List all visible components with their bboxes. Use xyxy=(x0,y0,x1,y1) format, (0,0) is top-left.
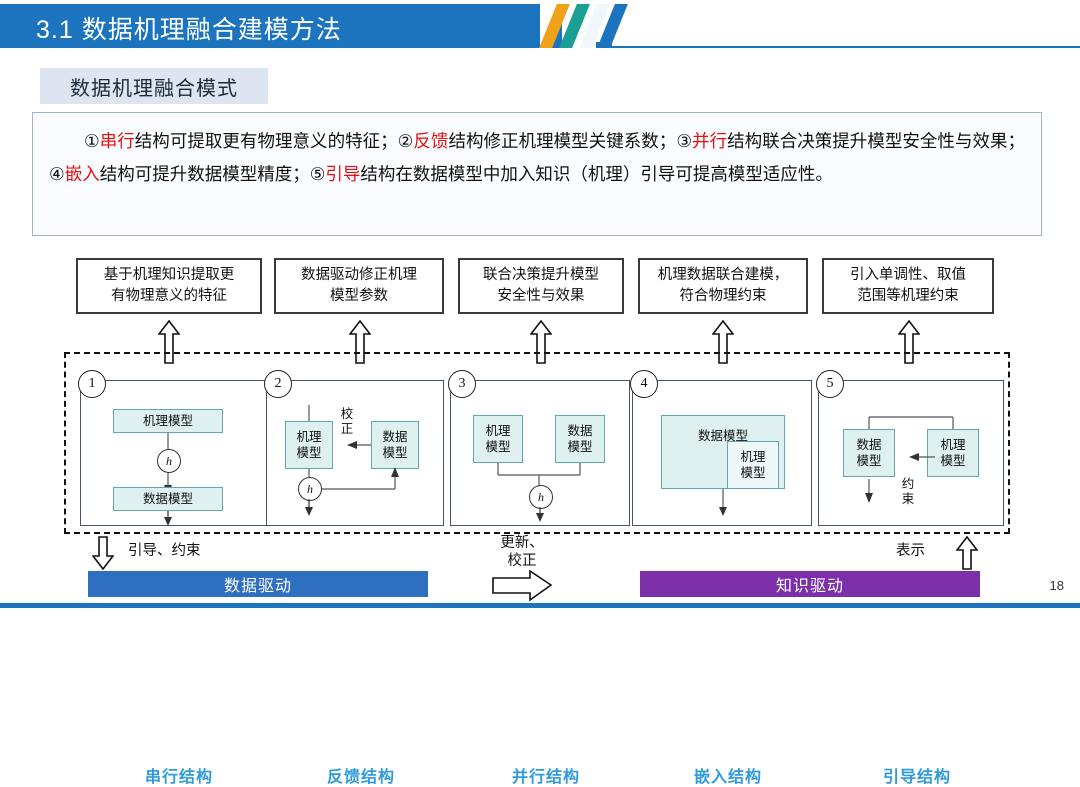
structure-number-4: 4 xyxy=(630,370,658,398)
footer-line xyxy=(0,603,1080,608)
outcome-box-2: 数据驱动修正机理 模型参数 xyxy=(274,258,444,314)
description-segment-10: 结构在数据模型中加入知识（机理）引导可提高模型适应性。 xyxy=(360,164,833,184)
description-segment-5: 并行 xyxy=(692,131,727,151)
parallel-data-model-box: 数据 模型 xyxy=(555,415,605,463)
structure-panel-parallel[interactable]: 并行结构 机理 模型 数据 模型 h xyxy=(450,380,630,526)
outcome-box-5-line2: 范围等机理约束 xyxy=(857,288,959,304)
description-segment-8: 结构可提升数据模型精度；⑤ xyxy=(100,164,326,184)
flow-label-mid-l1: 更新、 xyxy=(500,535,544,551)
structure-number-3: 3 xyxy=(448,370,476,398)
structure-number-5: 5 xyxy=(816,370,844,398)
outcome-box-1-line1: 基于机理知识提取更 xyxy=(104,267,235,283)
description-segment-4: 结构修正机理模型关键系数；③ xyxy=(448,131,692,151)
structure-number-1: 1 xyxy=(78,370,106,398)
embedded-mech-l1: 机理 xyxy=(740,449,765,465)
structure-panel-guided[interactable]: 引导结构 数据 模型 机理 模型 约 束 xyxy=(818,380,1004,526)
structure-panel-embedded-title: 嵌入结构 xyxy=(643,763,813,787)
header-rule xyxy=(596,46,1080,48)
knowledge-driven-bar: 知识驱动 xyxy=(640,571,980,597)
description-segment-3: 反馈 xyxy=(413,131,448,151)
embedded-output-arrow xyxy=(712,489,736,517)
outcome-box-1: 基于机理知识提取更 有物理意义的特征 xyxy=(76,258,262,314)
parallel-mechanism-model-box: 机理 模型 xyxy=(473,415,523,463)
description-text: ①串行结构可提取更有物理意义的特征；②反馈结构修正机理模型关键系数；③并行结构联… xyxy=(49,125,1025,191)
structure-panel-feedback-title: 反馈结构 xyxy=(277,763,445,787)
outcome-box-4-line1: 机理数据联合建模， xyxy=(658,267,789,283)
section-subheading: 数据机理融合模式 xyxy=(40,68,268,104)
outcome-box-5-line1: 引入单调性、取值 xyxy=(850,267,966,283)
slide-header: 3.1 数据机理融合建模方法 xyxy=(0,4,1080,50)
structure-panel-serial-title: 串行结构 xyxy=(89,763,269,787)
embedded-mech-l2: 模型 xyxy=(740,465,765,481)
outcome-box-3: 联合决策提升模型 安全性与效果 xyxy=(458,258,624,314)
parallel-mech-l1: 机理 xyxy=(485,423,510,439)
right-arrow-mid xyxy=(492,570,552,607)
flow-label-mid: 更新、 校正 xyxy=(492,534,552,570)
serial-mechanism-model-box: 机理模型 xyxy=(113,409,223,433)
feedback-h-node: h xyxy=(298,477,322,501)
description-segment-2: 结构可提取更有物理意义的特征；② xyxy=(135,131,414,151)
structure-number-2: 2 xyxy=(264,370,292,398)
description-segment-9: 引导 xyxy=(325,164,360,184)
outcome-box-1-line2: 有物理意义的特征 xyxy=(111,288,227,304)
data-driven-bar: 数据驱动 xyxy=(88,571,428,597)
guided-wiring xyxy=(839,409,999,509)
outcome-box-4: 机理数据联合建模， 符合物理约束 xyxy=(638,258,808,314)
parallel-h-node: h xyxy=(529,485,553,509)
description-segment-0: ① xyxy=(84,131,100,151)
flow-label-mid-l2: 校正 xyxy=(508,553,537,569)
serial-data-model-box: 数据模型 xyxy=(113,487,223,511)
flow-label-right: 表示 xyxy=(896,542,925,560)
flow-label-left: 引导、约束 xyxy=(128,542,201,560)
parallel-data-l2: 模型 xyxy=(567,439,592,455)
structure-panel-parallel-title: 并行结构 xyxy=(461,763,631,787)
outcome-box-5: 引入单调性、取值 范围等机理约束 xyxy=(822,258,994,314)
parallel-output-arrow xyxy=(529,507,553,523)
outcome-box-2-line2: 模型参数 xyxy=(330,288,388,304)
description-segment-1: 串行 xyxy=(100,131,135,151)
page-title: 3.1 数据机理融合建模方法 xyxy=(36,10,342,46)
serial-h-node: h xyxy=(157,449,181,473)
section-subheading-label: 数据机理融合模式 xyxy=(70,72,238,101)
structure-panel-feedback[interactable]: 反馈结构 机理 模型 数据 模型 校 正 h xyxy=(266,380,444,526)
outcome-box-3-line1: 联合决策提升模型 xyxy=(483,267,599,283)
serial-output-arrow xyxy=(157,511,181,527)
parallel-mech-l2: 模型 xyxy=(485,439,510,455)
outcome-box-2-line1: 数据驱动修正机理 xyxy=(301,267,417,283)
page-number: 18 xyxy=(1050,578,1064,593)
down-arrow-left xyxy=(92,536,114,575)
up-arrow-right xyxy=(956,536,978,575)
description-segment-7: 嵌入 xyxy=(65,164,100,184)
embedded-mechanism-model-box: 机理 模型 xyxy=(727,441,779,489)
outcome-box-3-line2: 安全性与效果 xyxy=(498,288,585,304)
outcome-box-4-line2: 符合物理约束 xyxy=(680,288,767,304)
structure-panel-serial[interactable]: 串行结构 机理模型 h 数据模型 xyxy=(80,380,268,526)
feedback-output-arrow xyxy=(298,499,322,517)
description-panel: ①串行结构可提取更有物理意义的特征；②反馈结构修正机理模型关键系数；③并行结构联… xyxy=(32,112,1042,236)
structure-panel-embedded[interactable]: 嵌入结构 数据模型 机理 模型 xyxy=(632,380,812,526)
structure-panel-guided-title: 引导结构 xyxy=(829,763,1005,787)
parallel-data-l1: 数据 xyxy=(567,423,592,439)
